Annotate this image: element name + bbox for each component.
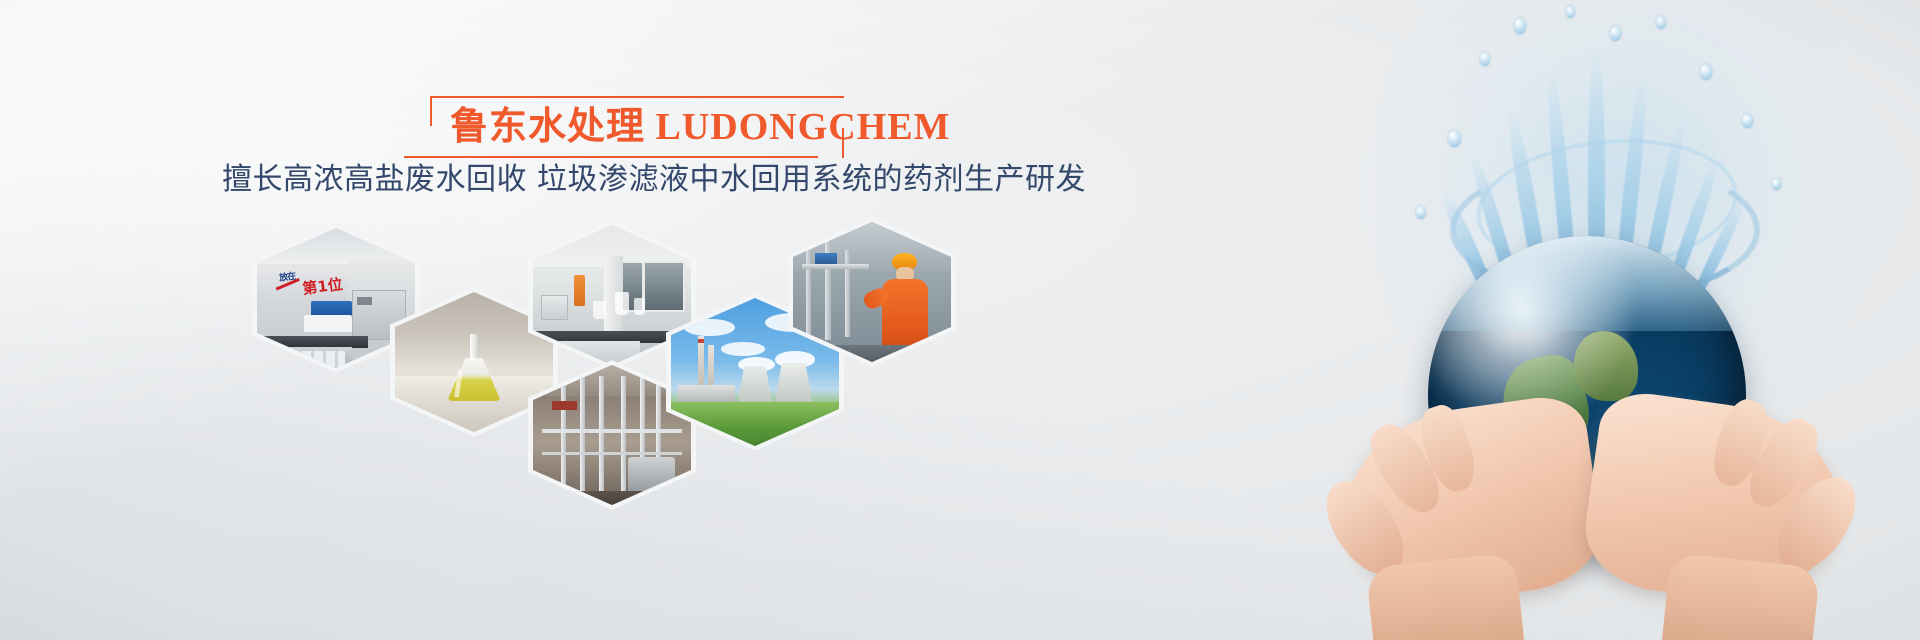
plant-pipe xyxy=(561,376,566,494)
plant-floor xyxy=(533,491,691,505)
water-droplet xyxy=(1514,18,1526,34)
facility-pipe xyxy=(806,244,811,339)
facility-blue-valve xyxy=(815,253,837,264)
plant-rail-upper xyxy=(542,429,681,433)
glassware-item-b xyxy=(634,298,645,315)
glassware-item-a xyxy=(615,292,629,314)
facility-pipe xyxy=(825,236,831,340)
plant-building xyxy=(678,385,735,403)
conical-flask xyxy=(447,334,501,401)
water-droplet xyxy=(1610,26,1621,41)
water-droplet xyxy=(1700,64,1712,80)
wall-slogan: 放在 第1位 xyxy=(273,263,349,300)
smoke-stack-stripe xyxy=(698,339,704,343)
frame-left-tick xyxy=(430,96,432,126)
cupped-hands xyxy=(1330,380,1850,640)
plant-red-valve xyxy=(552,401,577,409)
smoke-stack xyxy=(708,345,714,389)
left-wrist xyxy=(1366,552,1525,640)
smoke-stack xyxy=(698,336,704,389)
frame-top-bar xyxy=(430,96,844,98)
water-droplet xyxy=(1772,178,1781,190)
promo-banner: 鲁东水处理 LUDONGCHEM 擅长高浓高盐废水回收 垃圾渗滤液中水回用系统的… xyxy=(0,0,1920,640)
sky-cloud xyxy=(721,342,765,355)
plant-pipe xyxy=(621,376,626,494)
water-droplet xyxy=(1656,16,1666,29)
right-wrist xyxy=(1662,552,1821,640)
plant-rail-lower xyxy=(542,452,681,455)
water-droplet xyxy=(1566,6,1575,18)
facility-horizontal-pipe xyxy=(802,264,868,269)
cooling-tower xyxy=(738,366,772,402)
brand-title-block: 鲁东水处理 LUDONGCHEM xyxy=(404,96,844,158)
water-globe-artwork xyxy=(1160,0,1920,640)
glassware-lab-instrument xyxy=(541,295,568,320)
water-droplet xyxy=(1480,52,1490,66)
frame-bottom-bar xyxy=(404,156,818,158)
glassware-item-c xyxy=(593,301,606,319)
lab-white-device xyxy=(304,315,351,332)
plant-pipe xyxy=(580,376,585,494)
flask-neck xyxy=(470,334,479,360)
water-droplet xyxy=(1416,206,1426,219)
water-droplet xyxy=(1448,130,1461,147)
brand-title: 鲁东水处理 LUDONGCHEM xyxy=(450,99,830,155)
cooling-tower xyxy=(775,363,812,401)
banner-subtitle: 擅长高浓高盐废水回收 垃圾渗滤液中水回用系统的药剂生产研发 xyxy=(222,160,982,200)
glassware-lab-orange-stand xyxy=(574,275,585,306)
water-droplet xyxy=(1742,114,1753,128)
plant-pipe xyxy=(599,376,604,494)
wall-slogan-main: 第1位 xyxy=(302,273,345,299)
hexagon-photo-cluster: 放在 第1位 xyxy=(230,215,960,525)
